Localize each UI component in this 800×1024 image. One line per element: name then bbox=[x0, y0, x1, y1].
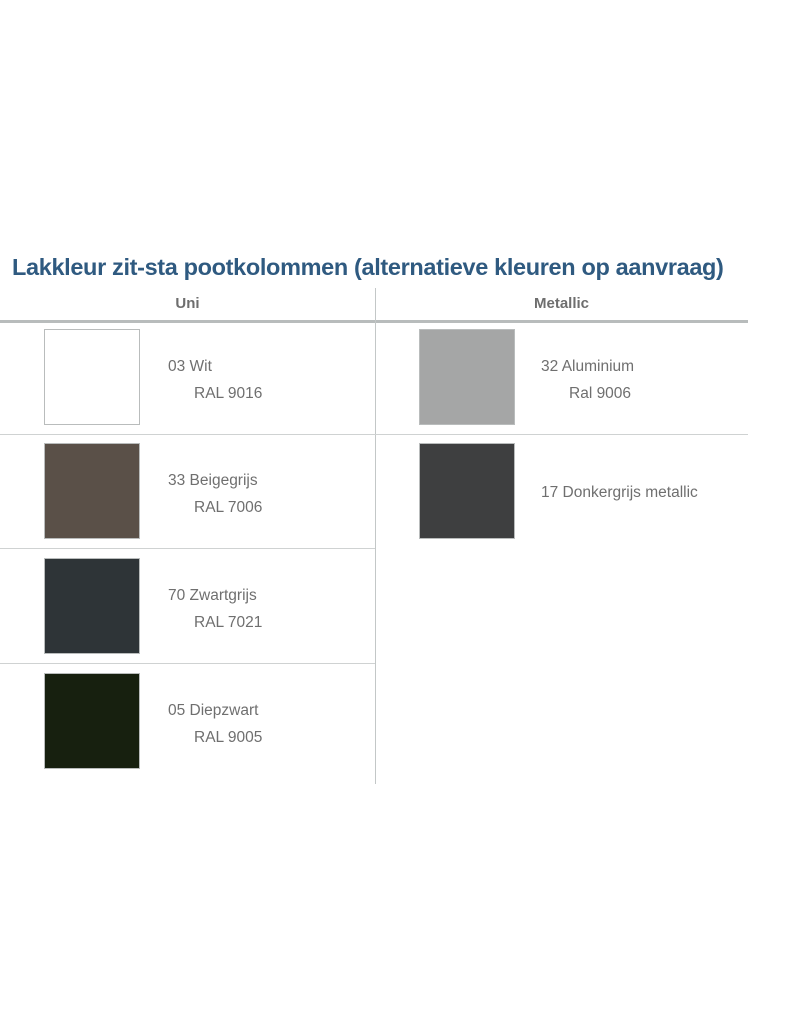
label-uni-3: 05 Diepzwart RAL 9005 bbox=[168, 697, 363, 751]
label-metallic-1: 17 Donkergrijs metallic bbox=[541, 483, 751, 503]
swatch-metallic-0 bbox=[419, 329, 515, 425]
row-divider-1 bbox=[0, 434, 748, 435]
label-uni-0: 03 Wit RAL 9016 bbox=[168, 353, 363, 407]
color-ral: Ral 9006 bbox=[541, 380, 751, 407]
column-header-metallic: Metallic bbox=[375, 295, 748, 312]
color-name: 05 Diepzwart bbox=[168, 697, 363, 724]
column-divider bbox=[375, 288, 376, 784]
color-ral: RAL 9016 bbox=[168, 380, 363, 407]
swatch-uni-1 bbox=[44, 443, 140, 539]
swatch-uni-0 bbox=[44, 329, 140, 425]
color-name: 17 Donkergrijs metallic bbox=[541, 483, 751, 503]
header-rule bbox=[0, 320, 748, 323]
label-metallic-0: 32 Aluminium Ral 9006 bbox=[541, 353, 751, 407]
row-divider-2 bbox=[0, 548, 375, 549]
color-ral: RAL 7021 bbox=[168, 609, 363, 636]
color-name: 70 Zwartgrijs bbox=[168, 582, 363, 609]
color-name: 33 Beigegrijs bbox=[168, 467, 363, 494]
swatch-metallic-1 bbox=[419, 443, 515, 539]
swatch-uni-3 bbox=[44, 673, 140, 769]
label-uni-1: 33 Beigegrijs RAL 7006 bbox=[168, 467, 363, 521]
column-header-uni: Uni bbox=[0, 295, 375, 312]
row-divider-3 bbox=[0, 663, 375, 664]
color-ral: RAL 9005 bbox=[168, 724, 363, 751]
color-ral: RAL 7006 bbox=[168, 494, 363, 521]
color-name: 03 Wit bbox=[168, 353, 363, 380]
color-chart-page: Lakkleur zit-sta pootkolommen (alternati… bbox=[0, 0, 800, 1024]
label-uni-2: 70 Zwartgrijs RAL 7021 bbox=[168, 582, 363, 636]
color-name: 32 Aluminium bbox=[541, 353, 751, 380]
page-title: Lakkleur zit-sta pootkolommen (alternati… bbox=[12, 252, 800, 282]
swatch-uni-2 bbox=[44, 558, 140, 654]
